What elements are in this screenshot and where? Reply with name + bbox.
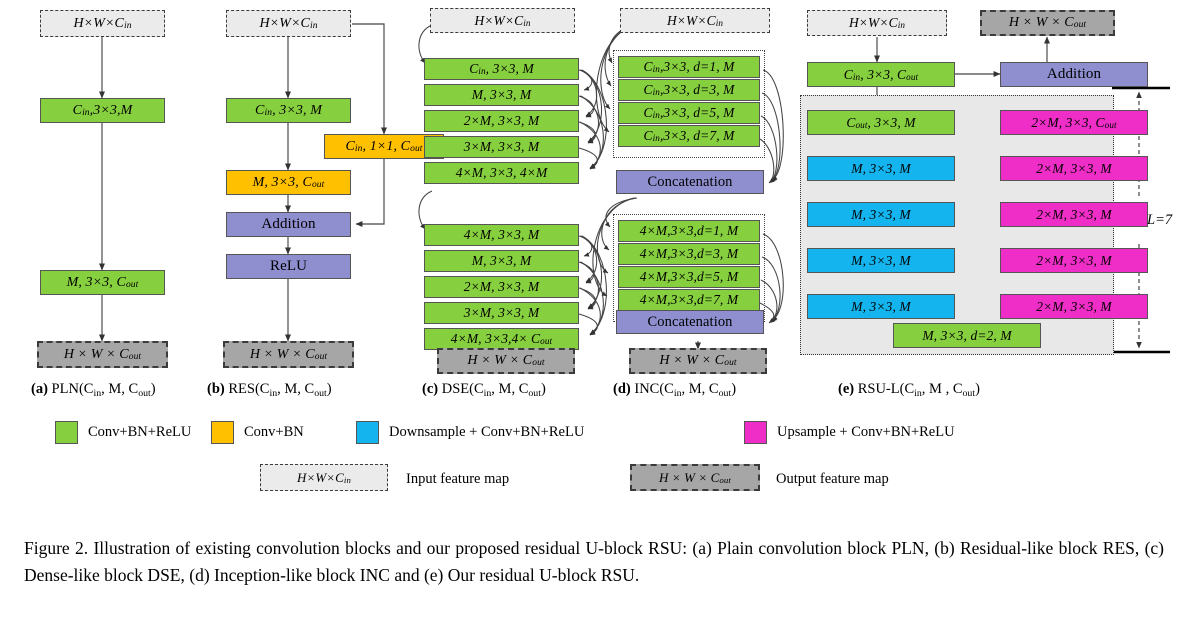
panel-b-subcaption-text: RES(Cin, M, Cout) bbox=[228, 381, 331, 397]
panel-e-bottleneck-block[interactable]: M, 3×3, d=2, M bbox=[893, 323, 1041, 348]
figure-caption: Figure 2. Illustration of existing convo… bbox=[24, 535, 1164, 588]
panel-d-block-1[interactable]: Cin,3×3, d=3, M bbox=[618, 79, 760, 101]
panel-a-block-0[interactable]: Cin,3×3,M bbox=[40, 98, 165, 123]
panel-c-block-3[interactable]: 3×M, 3×3, M bbox=[424, 136, 579, 158]
panel-e-depth-label: L=7 bbox=[1147, 212, 1172, 229]
panel-e-left-block-2[interactable]: M, 3×3, M bbox=[807, 156, 955, 181]
panel-e-subcaption: (e) RSU-L(Cin, M , Cout) bbox=[838, 381, 980, 398]
panel-d-block-3[interactable]: Cin,3×3, d=7, M bbox=[618, 125, 760, 147]
panel-d-block-6[interactable]: 4×M,3×3,d=3, M bbox=[618, 243, 760, 265]
panel-b-subcaption-prefix: (b) bbox=[207, 381, 225, 397]
legend-input-feature-map-label: Input feature map bbox=[406, 471, 509, 488]
legend-label-conv-bn: Conv+BN bbox=[244, 424, 304, 441]
panel-d-block-4[interactable]: Concatenation bbox=[616, 170, 764, 194]
panel-e-left-block-5[interactable]: M, 3×3, M bbox=[807, 294, 955, 319]
panel-c-block-2[interactable]: 2×M, 3×3, M bbox=[424, 110, 579, 132]
panel-e-input-feature-map: H×W×Cin bbox=[807, 10, 947, 36]
panel-e-right-block-5[interactable]: 2×M, 3×3, M bbox=[1000, 294, 1148, 319]
panel-c-block-9[interactable]: 4×M, 3×3,4× Cout bbox=[424, 328, 579, 350]
panel-e-right-block-3[interactable]: 2×M, 3×3, M bbox=[1000, 202, 1148, 227]
panel-b-block-2[interactable]: M, 3×3, Cout bbox=[226, 170, 351, 195]
legend-swatch-downsample bbox=[356, 421, 379, 444]
legend-swatch-conv-bn-relu bbox=[55, 421, 78, 444]
panel-c-subcaption: (c) DSE(Cin, M, Cout) bbox=[422, 381, 546, 398]
panel-e-output-feature-map: H × W × Cout bbox=[980, 10, 1115, 36]
panel-d-subcaption-text: INC(Cin, M, Cout) bbox=[634, 381, 736, 397]
panel-c-block-0[interactable]: Cin, 3×3, M bbox=[424, 58, 579, 80]
panel-e-right-block-2[interactable]: 2×M, 3×3, M bbox=[1000, 156, 1148, 181]
panel-a-input-feature-map: H×W×Cin bbox=[40, 10, 165, 37]
legend-label-downsample: Downsample + Conv+BN+ReLU bbox=[389, 424, 584, 441]
panel-d-block-8[interactable]: 4×M,3×3,d=7, M bbox=[618, 289, 760, 311]
panel-c-block-5[interactable]: 4×M, 3×3, M bbox=[424, 224, 579, 246]
panel-d-block-7[interactable]: 4×M,3×3,d=5, M bbox=[618, 266, 760, 288]
panel-b-block-4[interactable]: ReLU bbox=[226, 254, 351, 279]
panel-e-subcaption-text: RSU-L(Cin, M , Cout) bbox=[858, 381, 980, 397]
panel-c-block-4[interactable]: 4×M, 3×3, 4×M bbox=[424, 162, 579, 184]
panel-e-right-block-1[interactable]: 2×M, 3×3, Cout bbox=[1000, 110, 1148, 135]
panel-d-block-9[interactable]: Concatenation bbox=[616, 310, 764, 334]
panel-a-subcaption: (a) PLN(Cin, M, Cout) bbox=[31, 381, 156, 398]
panel-d-block-2[interactable]: Cin,3×3, d=5, M bbox=[618, 102, 760, 124]
legend-input-feature-map-box: H×W×Cin bbox=[260, 464, 388, 491]
panel-e-right-block-4[interactable]: 2×M, 3×3, M bbox=[1000, 248, 1148, 273]
panel-d-block-0[interactable]: Cin,3×3, d=1, M bbox=[618, 56, 760, 78]
panel-d-subcaption: (d) INC(Cin, M, Cout) bbox=[613, 381, 736, 398]
panel-a-block-1[interactable]: M, 3×3, Cout bbox=[40, 270, 165, 295]
figure-2-container: H×W×Cin Cin,3×3,M M, 3×3, Cout H × W × C… bbox=[0, 0, 1179, 625]
legend-output-feature-map-box: H × W × Cout bbox=[630, 464, 760, 491]
panel-e-left-block-4[interactable]: M, 3×3, M bbox=[807, 248, 955, 273]
panel-d-output-feature-map: H × W × Cout bbox=[629, 348, 767, 374]
panel-c-block-6[interactable]: M, 3×3, M bbox=[424, 250, 579, 272]
panel-b-subcaption: (b) RES(Cin, M, Cout) bbox=[207, 381, 332, 398]
legend-swatch-upsample bbox=[744, 421, 767, 444]
legend-output-feature-map-label: Output feature map bbox=[776, 471, 889, 488]
panel-e-subcaption-prefix: (e) bbox=[838, 381, 854, 397]
panel-a-subcaption-prefix: (a) bbox=[31, 381, 48, 397]
panel-c-block-8[interactable]: 3×M, 3×3, M bbox=[424, 302, 579, 324]
panel-b-input-feature-map: H×W×Cin bbox=[226, 10, 351, 37]
panel-e-right-block-0[interactable]: Addition bbox=[1000, 62, 1148, 87]
legend-label-conv-bn-relu: Conv+BN+ReLU bbox=[88, 424, 191, 441]
panel-c-block-1[interactable]: M, 3×3, M bbox=[424, 84, 579, 106]
panel-d-input-feature-map: H×W×Cin bbox=[620, 8, 770, 33]
panel-c-input-feature-map: H×W×Cin bbox=[430, 8, 575, 33]
legend-swatch-conv-bn bbox=[211, 421, 234, 444]
panel-c-subcaption-prefix: (c) bbox=[422, 381, 438, 397]
panel-b-block-3[interactable]: Addition bbox=[226, 212, 351, 237]
panel-b-output-feature-map: H × W × Cout bbox=[223, 341, 354, 368]
panel-e-left-block-0[interactable]: Cin, 3×3, Cout bbox=[807, 62, 955, 87]
panel-c-block-7[interactable]: 2×M, 3×3, M bbox=[424, 276, 579, 298]
panel-e-left-block-1[interactable]: Cout, 3×3, M bbox=[807, 110, 955, 135]
panel-a-subcaption-text: PLN(Cin, M, Cout) bbox=[52, 381, 156, 397]
panel-b-block-0[interactable]: Cin, 3×3, M bbox=[226, 98, 351, 123]
panel-c-output-feature-map: H × W × Cout bbox=[437, 348, 575, 374]
panel-d-block-5[interactable]: 4×M,3×3,d=1, M bbox=[618, 220, 760, 242]
panel-d-subcaption-prefix: (d) bbox=[613, 381, 631, 397]
legend-label-upsample: Upsample + Conv+BN+ReLU bbox=[777, 424, 955, 441]
panel-a-output-feature-map: H × W × Cout bbox=[37, 341, 168, 368]
panel-e-left-block-3[interactable]: M, 3×3, M bbox=[807, 202, 955, 227]
panel-c-subcaption-text: DSE(Cin, M, Cout) bbox=[442, 381, 546, 397]
